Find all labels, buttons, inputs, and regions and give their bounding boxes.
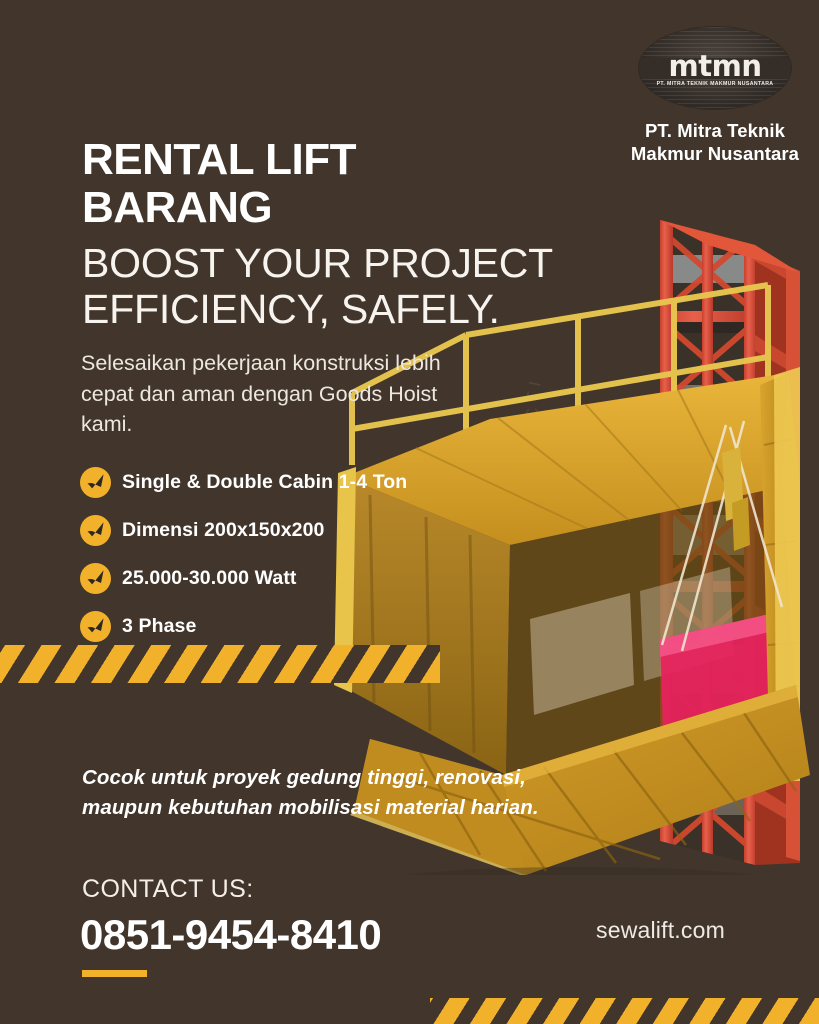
watermark-text-left: TISFACTI bbox=[523, 375, 567, 496]
check-icon bbox=[80, 563, 111, 594]
company-name-line2: Makmur Nusantara bbox=[620, 143, 810, 166]
headline: RENTAL LIFT BARANG bbox=[82, 136, 502, 231]
hazard-stripe-bottom bbox=[430, 998, 819, 1024]
list-item: Single & Double Cabin 1-4 Ton bbox=[80, 458, 500, 506]
logo-subtitle: PT. MITRA TEKNIK MAKMUR NUSANTARA bbox=[639, 81, 791, 87]
check-icon bbox=[80, 611, 111, 642]
feature-label: Single & Double Cabin 1-4 Ton bbox=[122, 471, 407, 494]
logo-wordmark: mtmn bbox=[639, 55, 791, 79]
feature-list: Single & Double Cabin 1-4 Ton Dimensi 20… bbox=[80, 458, 500, 650]
headline-line2: BARANG bbox=[82, 184, 502, 232]
lead-paragraph: Selesaikan pekerjaan konstruksi lebih ce… bbox=[81, 348, 451, 440]
check-icon bbox=[80, 515, 111, 546]
feature-label: Dimensi 200x150x200 bbox=[122, 519, 324, 542]
logo-ellipse-badge: mtmn PT. MITRA TEKNIK MAKMUR NUSANTARA bbox=[639, 27, 791, 109]
feature-label: 3 Phase bbox=[122, 615, 196, 638]
accent-underline-bar bbox=[82, 970, 147, 977]
company-name: PT. Mitra Teknik Makmur Nusantara bbox=[620, 120, 810, 165]
contact-website[interactable]: sewalift.com bbox=[596, 917, 725, 944]
headline-line1: RENTAL LIFT bbox=[82, 136, 502, 184]
contact-label: CONTACT US: bbox=[82, 875, 254, 904]
usage-note: Cocok untuk proyek gedung tinggi, renova… bbox=[82, 763, 582, 822]
poster-canvas: TISFACTI RANT bbox=[0, 0, 819, 1024]
feature-label: 25.000-30.000 Watt bbox=[122, 567, 297, 590]
watermark-text-right: RANT bbox=[762, 367, 787, 438]
subheadline-line2: EFFICIENCY, SAFELY. bbox=[82, 286, 642, 332]
brand-logo: mtmn PT. MITRA TEKNIK MAKMUR NUSANTARA P… bbox=[620, 27, 810, 165]
subheadline-line1: BOOST YOUR PROJECT bbox=[82, 240, 642, 286]
contact-phone[interactable]: 0851-9454-8410 bbox=[80, 911, 381, 959]
list-item: 3 Phase bbox=[80, 602, 500, 650]
list-item: 25.000-30.000 Watt bbox=[80, 554, 500, 602]
list-item: Dimensi 200x150x200 bbox=[80, 506, 500, 554]
check-icon bbox=[80, 467, 111, 498]
hazard-stripe-middle bbox=[0, 645, 440, 683]
subheadline: BOOST YOUR PROJECT EFFICIENCY, SAFELY. bbox=[82, 240, 642, 333]
company-name-line1: PT. Mitra Teknik bbox=[620, 120, 810, 143]
logo-wordmark-group: mtmn PT. MITRA TEKNIK MAKMUR NUSANTARA bbox=[639, 55, 791, 87]
